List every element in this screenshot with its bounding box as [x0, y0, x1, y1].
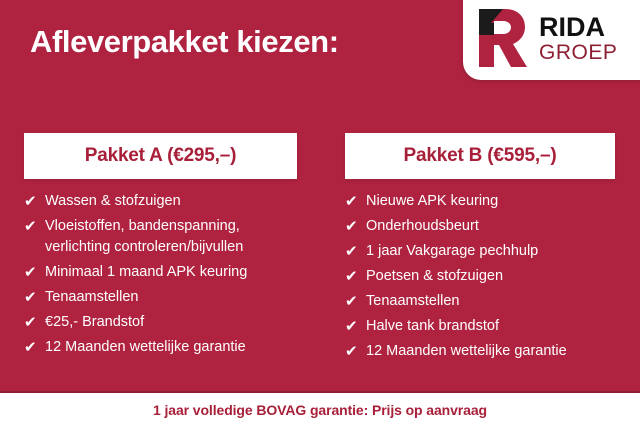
package-a-title: Pakket A (€295,–): [85, 145, 237, 167]
list-item-label: Tenaamstellen: [42, 287, 139, 308]
list-item: ✔Nieuwe APK keuring: [345, 191, 615, 212]
list-item-label: Tenaamstellen: [363, 291, 460, 312]
check-icon: ✔: [24, 262, 42, 283]
package-column-b: Pakket B (€595,–) ✔Nieuwe APK keuring✔On…: [345, 133, 615, 366]
package-column-a: Pakket A (€295,–) ✔Wassen & stofzuigen✔V…: [24, 133, 297, 362]
list-item-label: Poetsen & stofzuigen: [363, 266, 503, 287]
brand-name: RIDA: [539, 14, 617, 41]
check-icon: ✔: [24, 216, 42, 237]
list-item-label: Wassen & stofzuigen: [42, 191, 181, 212]
check-icon: ✔: [345, 266, 363, 287]
list-item: ✔Tenaamstellen: [345, 291, 615, 312]
package-b-title: Pakket B (€595,–): [404, 145, 557, 167]
list-item: ✔12 Maanden wettelijke garantie: [345, 341, 615, 362]
list-item-label: Onderhoudsbeurt: [363, 216, 479, 237]
footer-bar: 1 jaar volledige BOVAG garantie: Prijs o…: [0, 393, 640, 426]
list-item-label: Halve tank brandstof: [363, 316, 499, 337]
package-b-header: Pakket B (€595,–): [345, 133, 615, 179]
check-icon: ✔: [24, 337, 42, 358]
poster-header: Afleverpakket kiezen: RIDA GROEP: [0, 0, 640, 110]
check-icon: ✔: [345, 216, 363, 237]
list-item: ✔Vloeistoffen, bandenspanning, verlichti…: [24, 216, 297, 258]
check-icon: ✔: [345, 341, 363, 362]
brand-subtitle: GROEP: [539, 42, 617, 63]
list-item: ✔€25,- Brandstof: [24, 312, 297, 333]
list-item: ✔Poetsen & stofzuigen: [345, 266, 615, 287]
package-b-feature-list: ✔Nieuwe APK keuring✔Onderhoudsbeurt✔1 ja…: [345, 191, 615, 362]
list-item-label: 1 jaar Vakgarage pechhulp: [363, 241, 538, 262]
package-a-header: Pakket A (€295,–): [24, 133, 297, 179]
list-item: ✔Onderhoudsbeurt: [345, 216, 615, 237]
list-item: ✔Wassen & stofzuigen: [24, 191, 297, 212]
check-icon: ✔: [24, 191, 42, 212]
check-icon: ✔: [24, 312, 42, 333]
list-item-label: €25,- Brandstof: [42, 312, 144, 333]
check-icon: ✔: [345, 241, 363, 262]
brand-wordmark: RIDA GROEP: [539, 14, 617, 63]
list-item-label: Nieuwe APK keuring: [363, 191, 498, 212]
check-icon: ✔: [345, 291, 363, 312]
brand-logo-panel: RIDA GROEP: [463, 0, 640, 80]
list-item: ✔1 jaar Vakgarage pechhulp: [345, 241, 615, 262]
page-title: Afleverpakket kiezen:: [30, 22, 339, 62]
package-a-feature-list: ✔Wassen & stofzuigen✔Vloeistoffen, bande…: [24, 191, 297, 358]
check-icon: ✔: [345, 191, 363, 212]
list-item: ✔Halve tank brandstof: [345, 316, 615, 337]
list-item-label: 12 Maanden wettelijke garantie: [363, 341, 567, 362]
list-item: ✔12 Maanden wettelijke garantie: [24, 337, 297, 358]
list-item: ✔Tenaamstellen: [24, 287, 297, 308]
check-icon: ✔: [24, 287, 42, 308]
rida-r-logo-icon: [469, 5, 531, 71]
footer-guarantee-text: 1 jaar volledige BOVAG garantie: Prijs o…: [153, 402, 487, 418]
list-item-label: 12 Maanden wettelijke garantie: [42, 337, 246, 358]
list-item-label: Minimaal 1 maand APK keuring: [42, 262, 247, 283]
offer-poster: Afleverpakket kiezen: RIDA GROEP Pakket …: [0, 0, 640, 426]
list-item: ✔Minimaal 1 maand APK keuring: [24, 262, 297, 283]
list-item-label: Vloeistoffen, bandenspanning, verlichtin…: [42, 216, 297, 258]
check-icon: ✔: [345, 316, 363, 337]
